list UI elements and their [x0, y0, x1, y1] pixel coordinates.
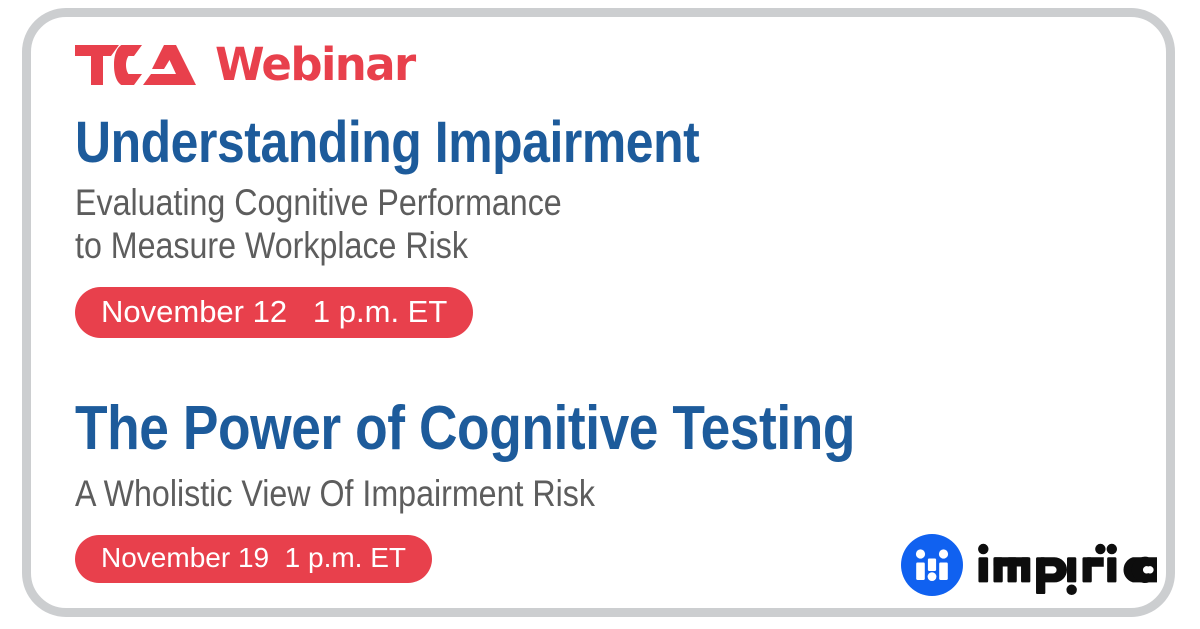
brand-lockup: Webinar [75, 39, 415, 91]
session-1-date-badge: November 12 1 p.m. ET [75, 287, 473, 338]
session-1-subtitle: Evaluating Cognitive Performance to Meas… [75, 176, 707, 267]
session-2-date-badge: November 19 1 p.m. ET [75, 535, 432, 583]
promo-card: Webinar Understanding Impairment Evaluat… [22, 8, 1175, 617]
impirica-logo [901, 530, 1161, 600]
webinar-label: Webinar [215, 42, 415, 87]
session-1-title: Understanding Impairment [75, 110, 699, 176]
session-2-title: The Power of Cognitive Testing [75, 394, 855, 464]
session-block-1: Understanding Impairment Evaluating Cogn… [75, 110, 801, 338]
tca-logotype-icon [75, 45, 214, 85]
impirica-three-figures-icon [901, 534, 963, 596]
session-2-subtitle: A Wholistic View Of Impairment Risk [75, 464, 864, 515]
card-content: Webinar Understanding Impairment Evaluat… [31, 17, 1166, 608]
impirica-wordmark [977, 534, 1157, 596]
session-block-2: The Power of Cognitive Testing A Wholist… [75, 394, 982, 583]
